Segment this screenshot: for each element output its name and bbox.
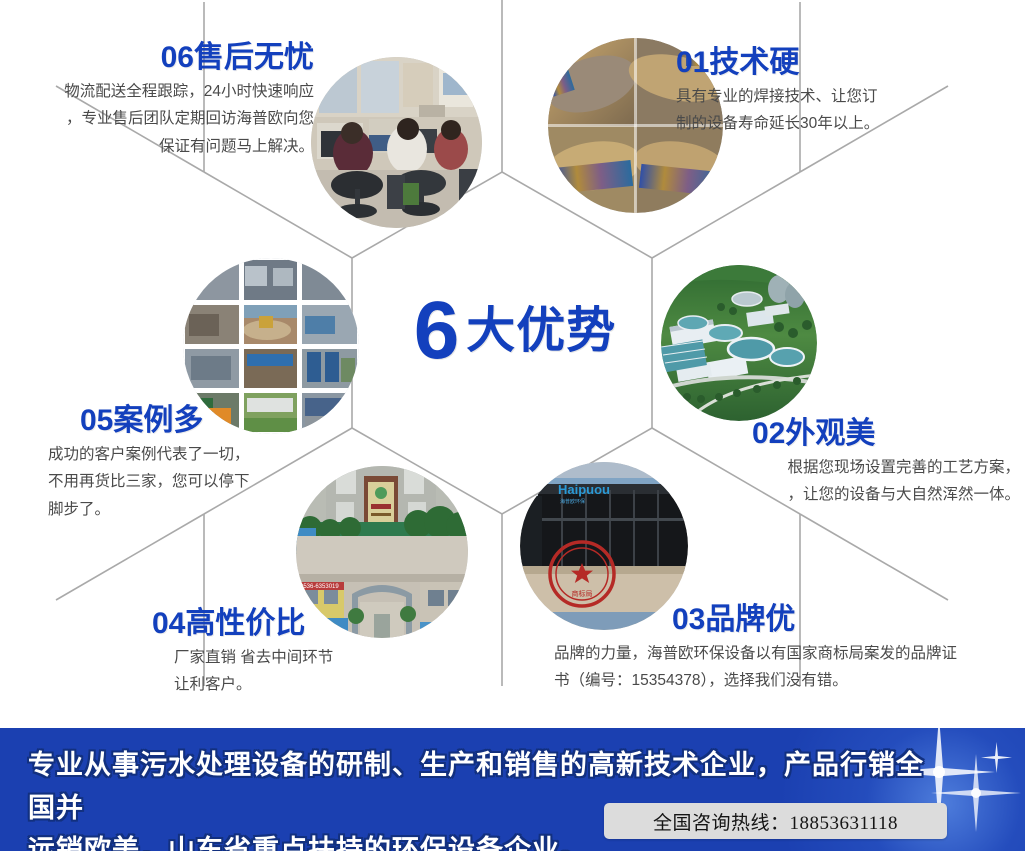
photo-sewage-treatment-plant-aerial bbox=[661, 265, 817, 421]
center-label: 大优势 bbox=[466, 307, 616, 356]
feature-value: 04高性价比 厂家直销 省去中间环节 让利客户。 bbox=[152, 608, 452, 699]
feature-cases-desc: 成功的客户案例代表了一切， 不用再货比三家，您可以停下 脚步了。 bbox=[48, 441, 380, 524]
feature-brand-number: 03品牌优 bbox=[672, 604, 1022, 636]
feature-value-desc: 厂家直销 省去中间环节 让利客户。 bbox=[174, 644, 452, 699]
advantages-infographic: 6 大优势 bbox=[0, 0, 1025, 862]
photo-black-equipment-tank: 商标局 Haipuou 海普欧环保 bbox=[520, 462, 688, 630]
hotline-text: 全国咨询热线：18853631118 bbox=[653, 808, 898, 835]
feature-appearance-desc: 根据您现场设置完善的工艺方案， ，让您的设备与大自然浑然一体。 bbox=[700, 454, 1020, 509]
svg-text:Haipuou: Haipuou bbox=[558, 482, 610, 497]
feature-appearance-number: 02外观美 bbox=[752, 418, 1020, 450]
feature-after-sales-number: 06售后无忧 bbox=[14, 42, 314, 74]
feature-brand: 03品牌优 品牌的力量，海普欧环保设备以有国家商标局案发的品牌证 书（编号：15… bbox=[672, 604, 1022, 695]
feature-value-number: 04高性价比 bbox=[152, 608, 452, 640]
svg-text:0536-6353019: 0536-6353019 bbox=[300, 584, 339, 590]
feature-cases: 05案例多 成功的客户案例代表了一切， 不用再货比三家，您可以停下 脚步了。 bbox=[80, 405, 380, 523]
feature-technology-desc: 具有专业的焊接技术、让您订 制的设备寿命延长30年以上。 bbox=[676, 83, 1006, 138]
hotline-badge[interactable]: 全国咨询热线：18853631118 bbox=[604, 803, 947, 839]
feature-after-sales-desc: 物流配送全程跟踪，24小时快速响应 ，专业售后团队定期回访海普欧向您 保证有问题… bbox=[14, 78, 314, 161]
photo-office-staff-working bbox=[311, 57, 482, 228]
feature-technology-number: 01技术硬 bbox=[676, 47, 1006, 79]
center-headline: 6 大优势 bbox=[380, 286, 650, 376]
feature-brand-desc: 品牌的力量，海普欧环保设备以有国家商标局案发的品牌证 书（编号：15354378… bbox=[554, 640, 1022, 695]
svg-text:商标局: 商标局 bbox=[572, 589, 593, 598]
feature-after-sales: 06售后无忧 物流配送全程跟踪，24小时快速响应 ，专业售后团队定期回访海普欧向… bbox=[14, 42, 314, 160]
feature-appearance: 02外观美 根据您现场设置完善的工艺方案， ，让您的设备与大自然浑然一体。 bbox=[700, 418, 1020, 509]
center-number: 6 bbox=[414, 290, 458, 372]
svg-text:海普欧环保: 海普欧环保 bbox=[560, 498, 585, 505]
feature-cases-number: 05案例多 bbox=[80, 405, 380, 437]
feature-technology: 01技术硬 具有专业的焊接技术、让您订 制的设备寿命延长30年以上。 bbox=[676, 47, 1006, 138]
